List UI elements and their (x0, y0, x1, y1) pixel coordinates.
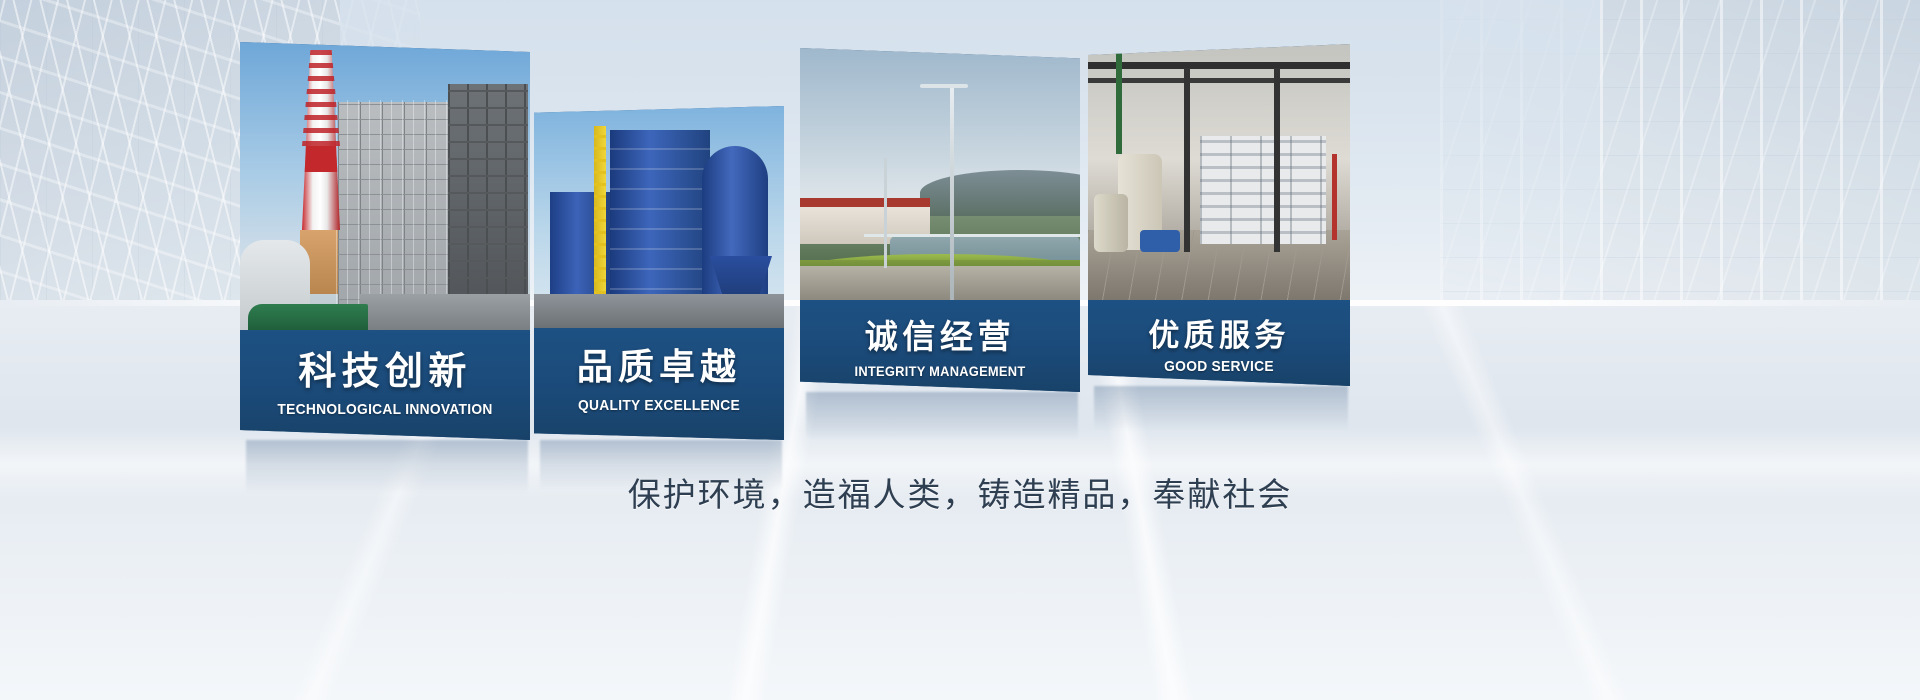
panel-caption-quality-excellence: 品质卓越 QUALITY EXCELLENCE (534, 328, 784, 440)
panel-title-en: GOOD SERVICE (1098, 358, 1339, 375)
panel-title-en: TECHNOLOGICAL INNOVATION (252, 401, 519, 418)
banner-tagline: 保护环境，造福人类，铸造精品，奉献社会 (0, 468, 1920, 516)
banner-stage: 科技创新 TECHNOLOGICAL INNOVATION 品质卓越 QUALI… (0, 0, 1920, 700)
panel-title-cn: 科技创新 (240, 340, 530, 395)
panel-photo-technological-innovation (240, 42, 530, 330)
panel-reflection-4 (1094, 386, 1348, 448)
feature-panel-good-service[interactable]: 优质服务 GOOD SERVICE (1088, 44, 1350, 386)
panel-caption-technological-innovation: 科技创新 TECHNOLOGICAL INNOVATION (240, 330, 530, 440)
feature-panel-integrity-management[interactable]: 诚信经营 INTEGRITY MANAGEMENT (800, 48, 1080, 392)
feature-panel-quality-excellence[interactable]: 品质卓越 QUALITY EXCELLENCE (534, 106, 784, 440)
feature-panel-list: 科技创新 TECHNOLOGICAL INNOVATION 品质卓越 QUALI… (0, 0, 1920, 700)
panel-photo-integrity-management (800, 48, 1080, 300)
panel-title-cn: 优质服务 (1088, 310, 1350, 355)
panel-photo-good-service (1088, 44, 1350, 300)
panel-title-en: QUALITY EXCELLENCE (544, 397, 774, 414)
feature-panel-technological-innovation[interactable]: 科技创新 TECHNOLOGICAL INNOVATION (240, 42, 530, 440)
panel-caption-good-service: 优质服务 GOOD SERVICE (1088, 300, 1350, 386)
panel-photo-quality-excellence (534, 106, 784, 328)
panel-caption-integrity-management: 诚信经营 INTEGRITY MANAGEMENT (800, 300, 1080, 392)
panel-title-cn: 诚信经营 (800, 310, 1080, 358)
panel-title-cn: 品质卓越 (534, 338, 784, 390)
panel-reflection-3 (806, 392, 1078, 458)
panel-title-en: INTEGRITY MANAGEMENT (811, 363, 1069, 379)
